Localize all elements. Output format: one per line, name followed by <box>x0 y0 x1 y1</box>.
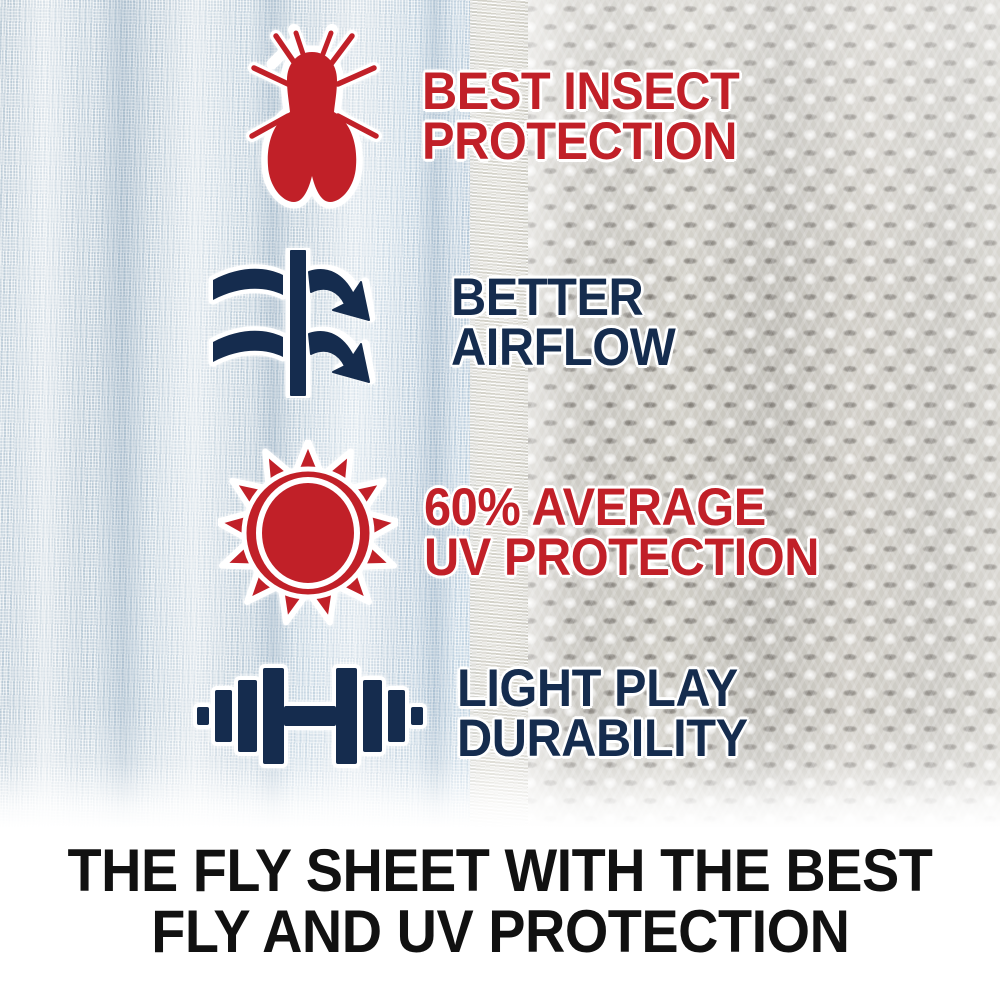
dumbbell-icon <box>193 660 427 772</box>
airflow-icon <box>205 248 423 398</box>
feature-list: BEST INSECT PROTECTION <box>0 0 1000 828</box>
feature-row-airflow: BETTER AIRFLOW <box>205 248 695 398</box>
feature-label-insect-protection: BEST INSECT PROTECTION <box>422 67 739 167</box>
feature-row-uv-protection: 60% AVERAGE UV PROTECTION <box>218 440 853 626</box>
headline-line-1: THE FLY SHEET WITH THE BEST <box>68 840 933 901</box>
product-feature-poster: BEST INSECT PROTECTION <box>0 0 1000 1000</box>
feature-label-airflow: BETTER AIRFLOW <box>451 273 675 373</box>
feature-label-durability: LIGHT PLAY DURABILITY <box>457 664 748 764</box>
headline-bar: THE FLY SHEET WITH THE BEST FLY AND UV P… <box>0 828 1000 1000</box>
feature-row-durability: LIGHT PLAY DURABILITY <box>193 660 773 772</box>
headline-line-2: FLY AND UV PROTECTION <box>151 901 849 962</box>
feature-label-uv-protection: 60% AVERAGE UV PROTECTION <box>424 483 819 583</box>
feature-row-insect-protection: BEST INSECT PROTECTION <box>232 24 767 214</box>
fly-icon <box>232 24 392 214</box>
sun-icon <box>218 440 398 626</box>
